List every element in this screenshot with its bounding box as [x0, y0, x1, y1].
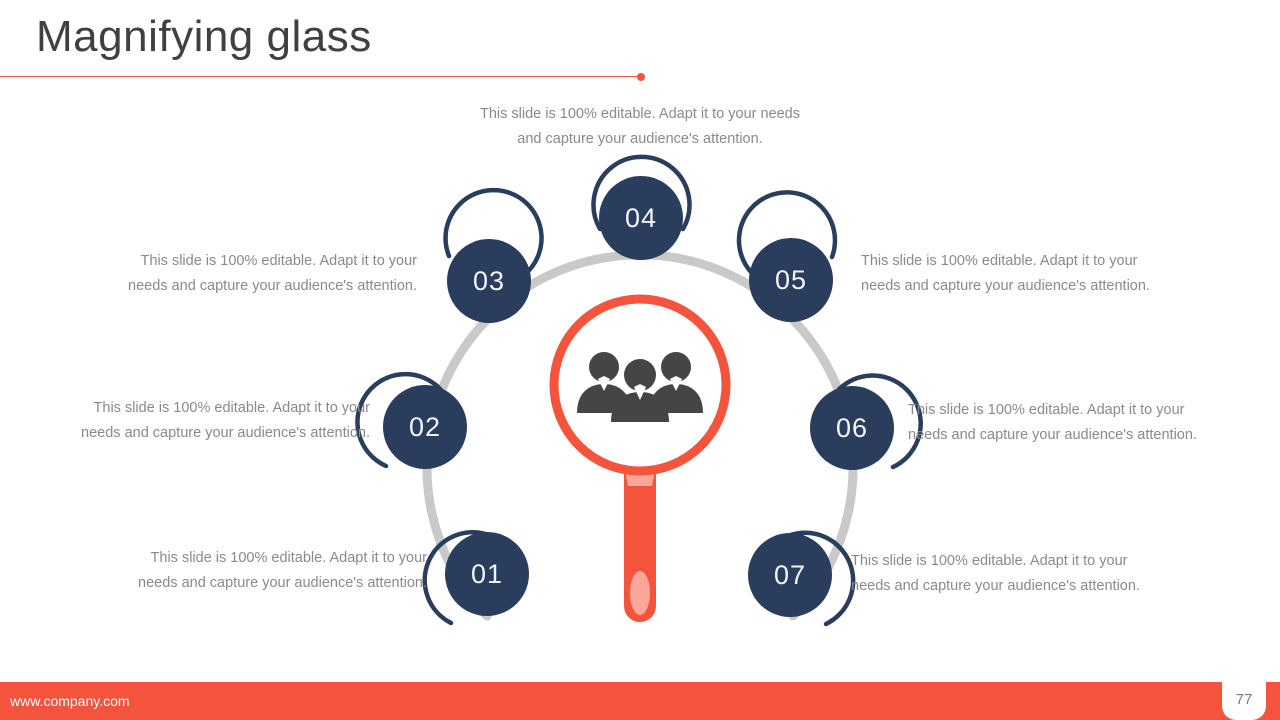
- caption-node-03: This slide is 100% editable. Adapt it to…: [117, 249, 417, 299]
- magnifier-lens-ring: [554, 299, 726, 471]
- footer-bar: [0, 682, 1280, 720]
- node-circle-06[interactable]: 06: [810, 386, 894, 470]
- magnifier-handle: [624, 450, 656, 622]
- page-title: Magnifying glass: [36, 12, 372, 62]
- caption-node-05: This slide is 100% editable. Adapt it to…: [861, 249, 1161, 299]
- node-circle-01[interactable]: 01: [445, 532, 529, 616]
- node-label-06: 06: [836, 413, 868, 444]
- node-circle-05[interactable]: 05: [749, 238, 833, 322]
- caption-node-06: This slide is 100% editable. Adapt it to…: [908, 398, 1208, 448]
- caption-node-02: This slide is 100% editable. Adapt it to…: [70, 396, 370, 446]
- node-label-07: 07: [774, 560, 806, 591]
- caption-center-top: This slide is 100% editable. Adapt it to…: [470, 102, 810, 152]
- magnifier-handle-highlight: [630, 571, 650, 615]
- node-circle-02[interactable]: 02: [383, 385, 467, 469]
- node-label-03: 03: [473, 266, 505, 297]
- caption-node-01: This slide is 100% editable. Adapt it to…: [127, 546, 427, 596]
- node-label-04: 04: [625, 203, 657, 234]
- node-label-02: 02: [409, 412, 441, 443]
- page-number-badge: 77: [1222, 664, 1266, 720]
- title-rule-end-dot-icon: [637, 73, 645, 81]
- title-underline-rule: [0, 76, 641, 77]
- magnifying-glass-graphic: [554, 299, 726, 622]
- magnifier-neck: [622, 456, 658, 486]
- caption-node-07: This slide is 100% editable. Adapt it to…: [851, 549, 1151, 599]
- node-label-01: 01: [471, 559, 503, 590]
- node-circle-07[interactable]: 07: [748, 533, 832, 617]
- node-circle-04[interactable]: 04: [599, 176, 683, 260]
- node-label-05: 05: [775, 265, 807, 296]
- footer-company-url[interactable]: www.company.com: [10, 693, 130, 709]
- team-people-icon: [577, 352, 703, 422]
- slide-canvas: Magnifying glass: [0, 0, 1280, 720]
- node-circle-03[interactable]: 03: [447, 239, 531, 323]
